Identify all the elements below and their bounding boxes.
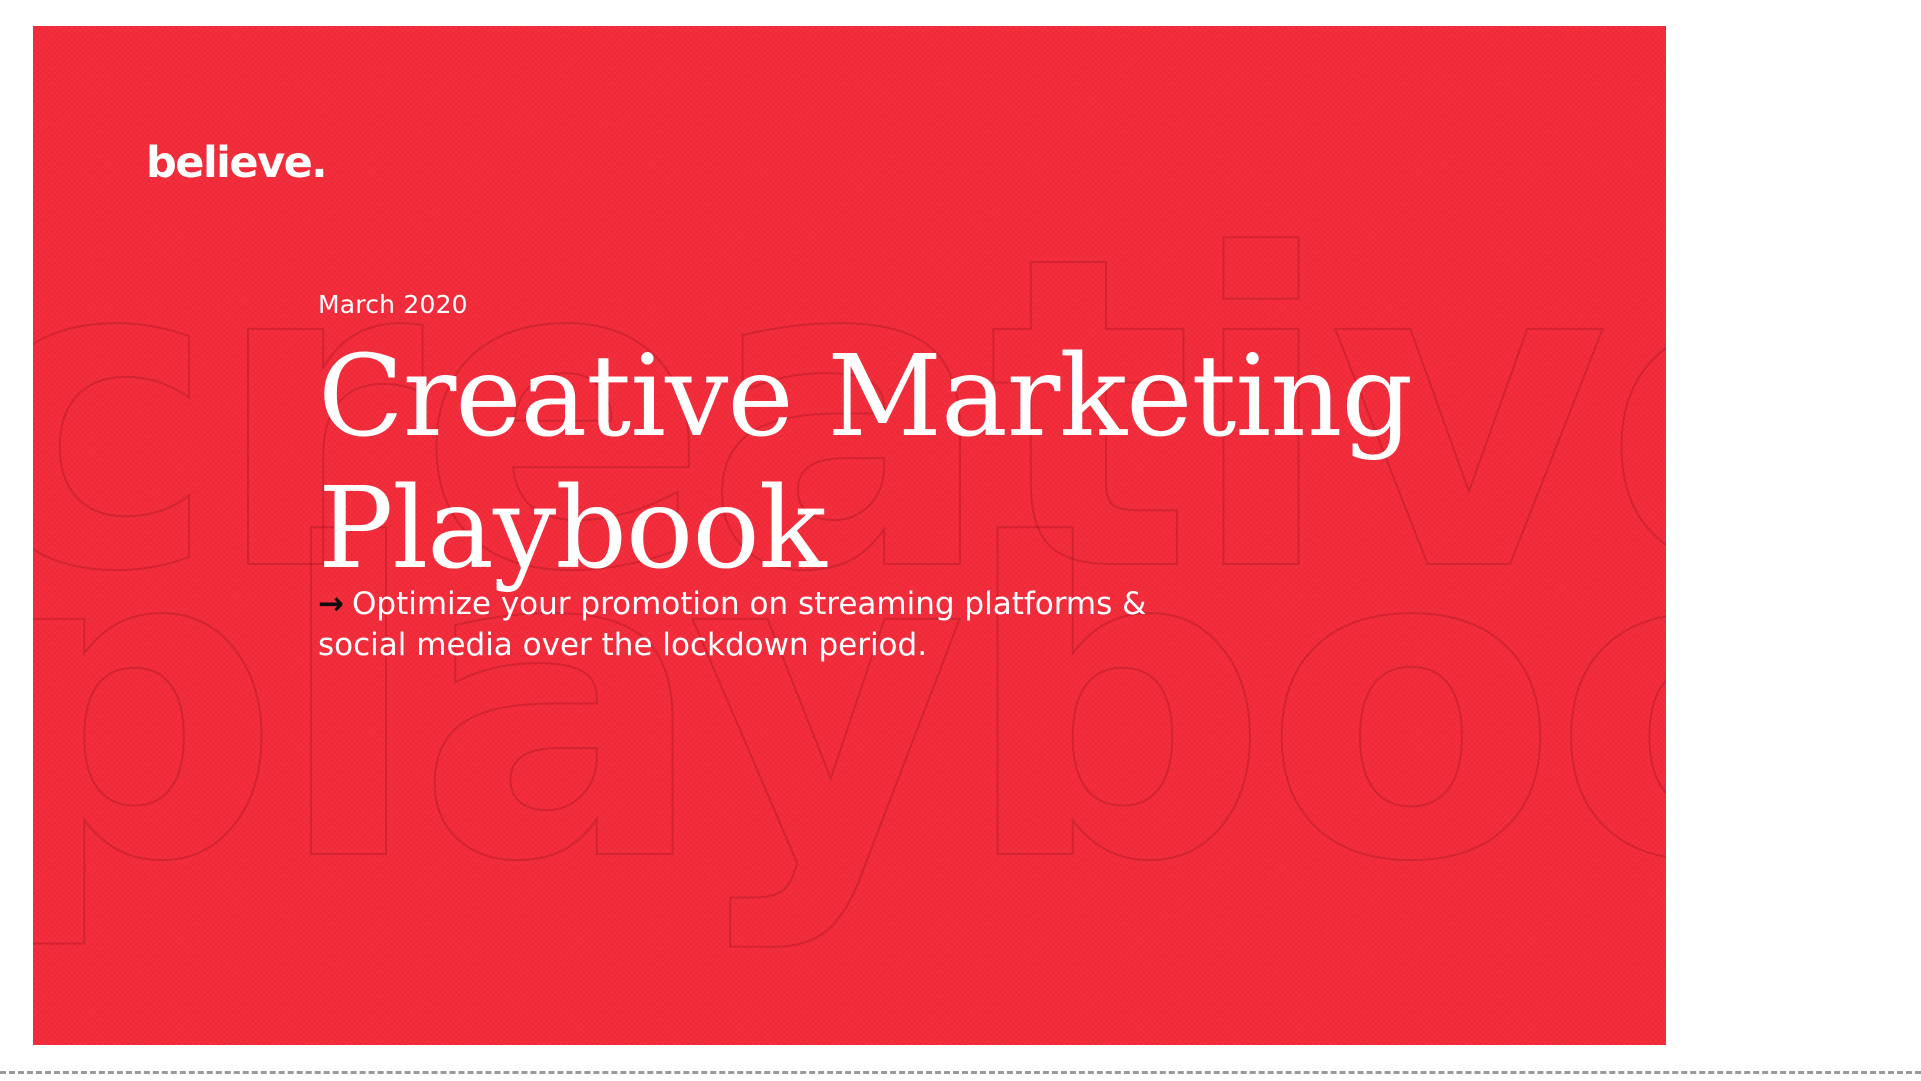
title-slide: creative playbook believe. March 2020 Cr… (33, 26, 1666, 1045)
page-title-line-1: Creative Marketing (318, 331, 1418, 463)
slide-content: believe. March 2020 Creative Marketing P… (33, 26, 1666, 1045)
slide-date: March 2020 (318, 290, 468, 319)
slide-subtitle: →Optimize your promotion on streaming pl… (318, 584, 1178, 666)
bottom-dashed-divider (0, 1071, 1921, 1074)
page-title-line-2: Playbook (318, 463, 1418, 595)
arrow-right-icon: → (318, 586, 344, 622)
believe-logo-dot: . (311, 138, 326, 188)
slide-page: creative playbook believe. March 2020 Cr… (0, 0, 1921, 1081)
page-title: Creative Marketing Playbook (318, 331, 1418, 595)
believe-logo-text: believe (146, 138, 311, 188)
believe-logo: believe. (146, 142, 326, 185)
slide-subtitle-line-2: media over the lockdown period. (416, 627, 927, 663)
